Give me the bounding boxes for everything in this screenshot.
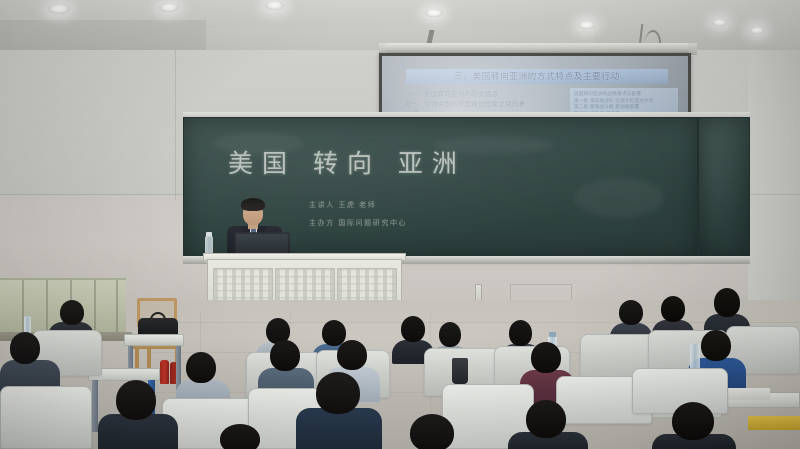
person-torso bbox=[296, 408, 382, 449]
person-head bbox=[270, 340, 300, 371]
person-head bbox=[439, 322, 461, 347]
person-head bbox=[220, 424, 260, 449]
audience-member bbox=[400, 414, 470, 449]
person-head bbox=[531, 342, 561, 373]
person-head bbox=[672, 402, 714, 440]
notebook bbox=[722, 388, 770, 400]
student-desk bbox=[124, 334, 184, 346]
ceiling-soffit-left bbox=[0, 20, 206, 54]
notebook bbox=[748, 416, 800, 430]
recessed-downlight bbox=[578, 21, 595, 29]
presenter-hair bbox=[241, 198, 265, 211]
audience-member bbox=[652, 402, 736, 449]
slide-title-text: 三、美国转向亚洲的方式特点及主要行动 bbox=[406, 69, 668, 84]
person-head bbox=[186, 352, 216, 383]
person-head bbox=[60, 300, 84, 325]
recessed-downlight bbox=[425, 9, 443, 17]
chalk-smudge bbox=[574, 178, 664, 218]
person-head bbox=[714, 288, 740, 317]
audience-member bbox=[296, 372, 382, 449]
recessed-downlight bbox=[750, 27, 764, 34]
recessed-downlight bbox=[159, 3, 179, 12]
person-head bbox=[116, 380, 156, 420]
travel-mug bbox=[452, 358, 468, 384]
wall-right-return bbox=[748, 50, 800, 306]
person-head bbox=[619, 300, 643, 325]
person-head bbox=[701, 330, 731, 361]
audience-member bbox=[98, 380, 178, 449]
recessed-downlight bbox=[712, 19, 727, 26]
person-head bbox=[316, 372, 360, 414]
person-head bbox=[401, 316, 425, 342]
recessed-downlight bbox=[48, 4, 70, 14]
slide-body-line: （一）美国转向亚洲的方式特点 bbox=[404, 90, 564, 100]
audience-member bbox=[212, 424, 276, 449]
audience-member bbox=[508, 400, 588, 449]
chalkboard-subline: 主办方 国际问题研究中心 bbox=[309, 218, 407, 228]
locker-divider bbox=[116, 280, 118, 334]
wall-seam bbox=[175, 50, 176, 200]
lecture-hall-scene: 三、美国转向亚洲的方式特点及主要行动 （一）美国转向亚洲的方式特点 第一、加强中… bbox=[0, 0, 800, 449]
bottle-cap bbox=[549, 332, 556, 337]
water-bottle bbox=[690, 344, 700, 370]
chalkboard-subline: 主讲人 王虎 老师 bbox=[309, 200, 376, 210]
slide-title-band: 三、美国转向亚洲的方式特点及主要行动 bbox=[406, 69, 668, 84]
person-head bbox=[410, 414, 454, 449]
screen-housing bbox=[385, 43, 690, 53]
person-head bbox=[337, 340, 367, 370]
person-head bbox=[526, 400, 566, 438]
recessed-downlight bbox=[265, 1, 284, 10]
slide-body-line: 第一、加强中国与美国周边国家之间的矛 bbox=[404, 100, 564, 110]
audience-chair[interactable] bbox=[0, 386, 92, 449]
chalkboard-heading: 美国 转向 亚洲 bbox=[228, 144, 466, 180]
person-head bbox=[661, 296, 685, 322]
chalkboard-secondary bbox=[698, 117, 750, 258]
person-head bbox=[10, 332, 40, 364]
locker-divider bbox=[94, 280, 96, 334]
floor-grout-line bbox=[150, 322, 800, 323]
